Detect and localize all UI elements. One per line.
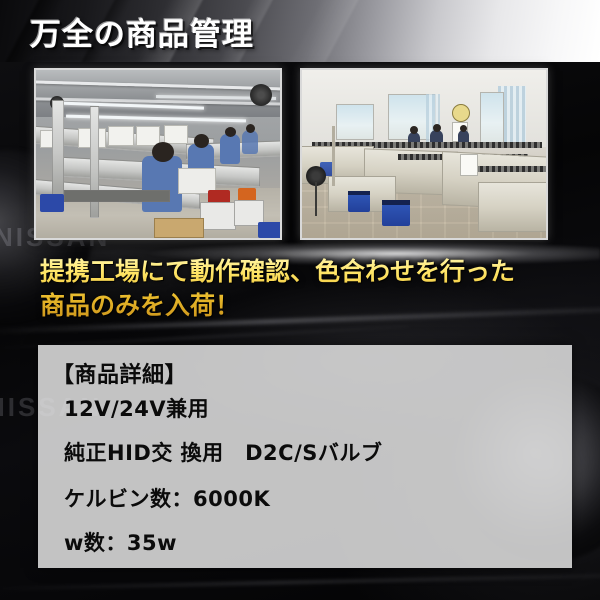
product-advertisement-banner: NISSAN NISSAN 万全の商品管理 [0,0,600,600]
tagline-text: 提携工場にて動作確認、色合わせを行った 商品のみを入荷！ [40,255,580,323]
detail-wattage: w数：35w [64,527,177,557]
factory-blue-bin-right [258,222,282,238]
factory-cardboard-box [154,218,204,238]
factory-ceiling-fan [250,84,272,106]
factory-worker-back-1 [220,134,240,164]
inspection-counter-far-right [478,182,548,232]
tagline-line-1: 提携工場にて動作確認、色合わせを行った [40,257,515,286]
inspection-blue-crate-2 [382,204,410,226]
header-band: 万全の商品管理 [0,0,600,62]
detail-bulb-type: 純正HID交 換用 D2C/Sバルブ [64,437,382,467]
factory-worker-back-2-head [246,124,255,133]
photo-factory-assembly-line [34,68,282,240]
inspection-posted-notice [460,154,478,176]
inspection-window-right [480,92,504,144]
inspection-wall-clock [452,104,470,122]
inspection-worker-2-head [433,124,441,132]
factory-worker-back-2 [242,130,258,154]
detail-voltage: 12V/24V兼用 [64,393,209,423]
factory-paper-2 [108,126,134,146]
factory-ceiling [36,70,280,117]
header-streak-light-3 [276,0,364,62]
factory-post-1 [52,100,64,198]
page-title: 万全の商品管理 [30,9,254,54]
product-details-heading: 【商品詳細】 [52,357,187,389]
factory-white-stool-1 [200,202,236,230]
factory-worker-front-head [152,142,174,162]
product-details-panel: 【商品詳細】 12V/24V兼用 純正HID交 換用 D2C/Sバルブ ケルビン… [38,345,572,568]
factory-worker-front [142,156,182,212]
tagline-line-2: 商品のみを入荷！ [40,289,580,323]
factory-blue-bin-left [40,194,64,212]
inspection-blue-crate-2-lid [382,200,410,205]
inspection-fan-pole [315,182,317,216]
detail-color-temperature: ケルビン数：6000K [64,483,270,513]
inspection-worker-3-head [460,125,467,132]
factory-conveyor [64,190,170,202]
inspection-worker-1-head [410,126,418,134]
inspection-window-left [336,104,374,140]
factory-paper-4 [164,125,188,144]
inspection-column [332,126,335,186]
inspection-blue-crate-1-lid [348,191,370,195]
factory-worker-back-1-head [225,127,236,137]
inspection-scene [302,70,546,238]
factory-worker-mid-head [194,134,209,148]
factory-scene [36,70,280,238]
inspection-test-rack-right [468,166,548,172]
photo-inspection-testing-room [300,68,548,240]
inspection-blue-crate-1 [348,194,370,212]
